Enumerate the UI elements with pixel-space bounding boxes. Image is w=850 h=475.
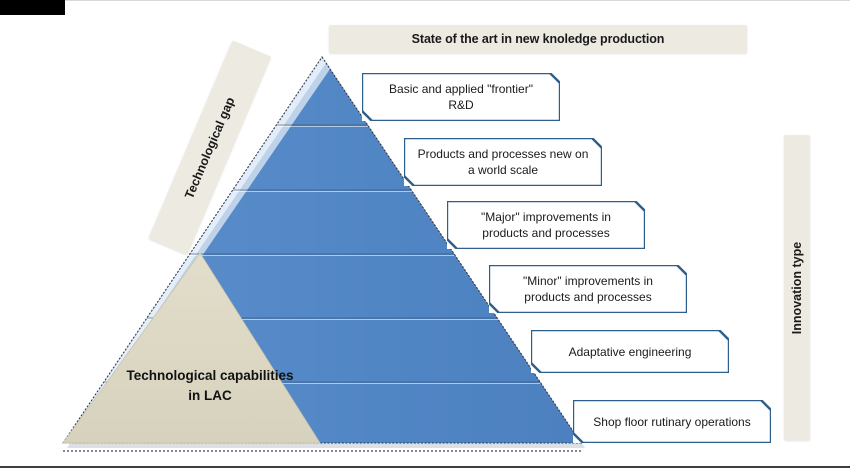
innovation-type-banner: Innovation type (784, 135, 810, 440)
callout-minor-improvements[interactable]: "Minor" improvements in products and pro… (489, 265, 687, 313)
diagram-canvas: Technological capabilities in LAC State … (0, 0, 850, 475)
callout-frontier-rnd[interactable]: Basic and applied "frontier" R&D (362, 73, 560, 121)
callout-world-scale-text: Products and processes new on a world sc… (418, 146, 589, 178)
callout-major-improvements[interactable]: "Major" improvements in products and pro… (447, 201, 645, 249)
callout-adaptative-engineering[interactable]: Adaptative engineering (531, 330, 729, 373)
callout-shop-floor[interactable]: Shop floor rutinary operations (573, 400, 771, 443)
header-banner: State of the art in new knoledge product… (329, 25, 747, 53)
callout-frontier-rnd-text: Basic and applied "frontier" R&D (389, 81, 533, 113)
innovation-type-label: Innovation type (790, 241, 804, 333)
header-title: State of the art in new knoledge product… (412, 32, 665, 46)
callout-major-improvements-text: "Major" improvements in products and pro… (481, 209, 611, 241)
callout-adaptative-engineering-text: Adaptative engineering (569, 344, 692, 360)
frame-bottom-line (0, 466, 850, 468)
callout-world-scale[interactable]: Products and processes new on a world sc… (404, 138, 602, 186)
callout-shop-floor-text: Shop floor rutinary operations (593, 414, 750, 430)
callout-minor-improvements-text: "Minor" improvements in products and pro… (523, 273, 653, 305)
